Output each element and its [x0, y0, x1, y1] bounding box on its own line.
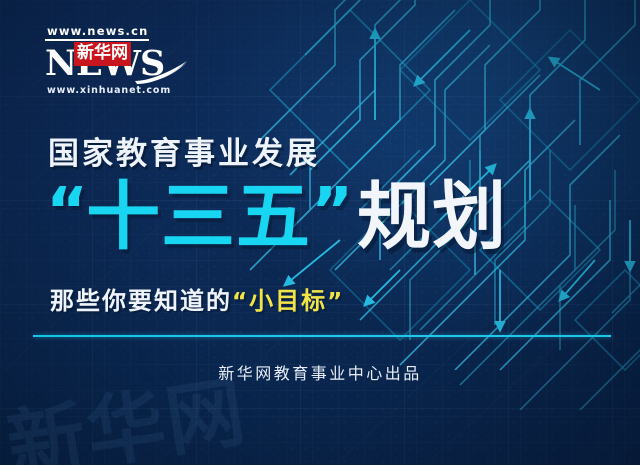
tagline-highlight: 小目标 — [249, 287, 327, 315]
section-divider — [33, 335, 611, 337]
tagline-quote-open: “ — [232, 289, 249, 315]
tagline: 那些你要知道的“小目标” — [50, 281, 344, 316]
logo-letter-n: N — [45, 43, 76, 84]
credit-line: 新华网教育事业中心出品 — [0, 360, 640, 384]
main-title: “十三五”规划 — [46, 180, 507, 254]
tagline-prefix: 那些你要知道的 — [50, 287, 232, 315]
logo-chinese-badge: 新华网 — [74, 42, 131, 66]
xinhua-logo[interactable]: www.news.cn NEWS 新华网 www.xinhuanet.com — [45, 20, 180, 98]
title-quote-open: “ — [46, 175, 86, 249]
eyebrow-text: 国家教育事业发展 — [48, 128, 320, 173]
logo-bottom-url: www.xinhuanet.com — [45, 85, 180, 96]
poster-canvas: 新华网 www.news.cn NEWS 新华网 www.xinhuanet.c… — [0, 0, 640, 465]
tagline-quote-close: ” — [327, 289, 344, 315]
logo-top-url: www.news.cn — [45, 25, 149, 41]
title-quote-close: ” — [311, 175, 351, 249]
title-cyan-text: 十三五 — [86, 174, 311, 260]
logo-wordmark: NEWS 新华网 — [45, 44, 180, 84]
title-white-text: 规划 — [357, 174, 507, 260]
logo-swoosh-icon — [133, 58, 189, 84]
